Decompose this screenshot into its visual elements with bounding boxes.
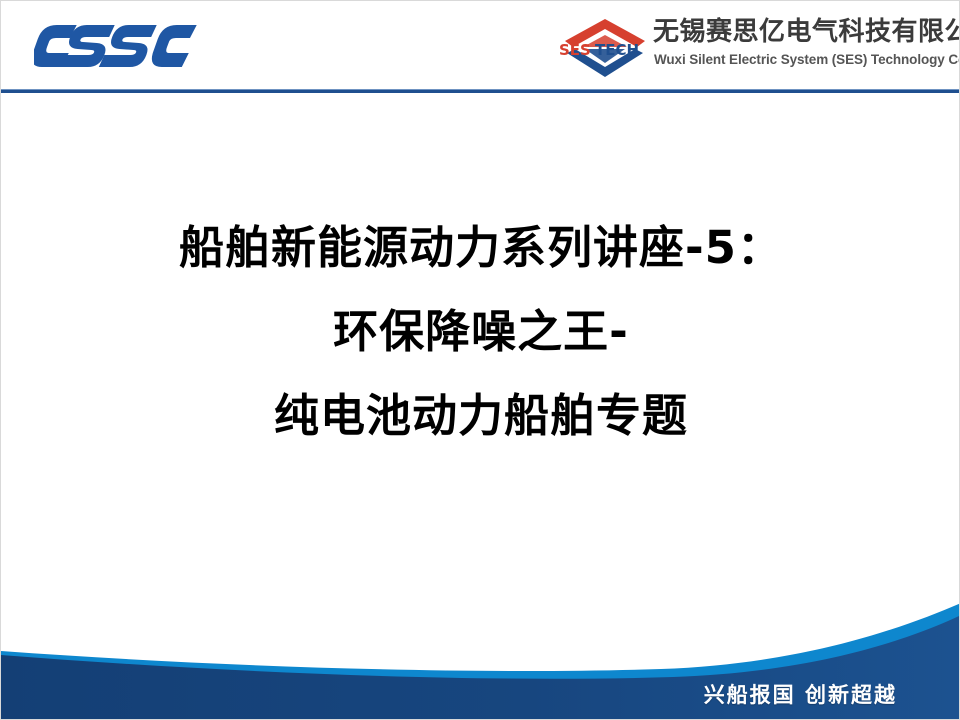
presentation-slide: SES TECH 无锡赛思亿电气科技有限公司 Wuxi Silent Elect… [0,0,960,720]
svg-text:SES: SES [559,41,591,59]
sestech-mark-icon: SES TECH [557,15,653,79]
sestech-logo-block: SES TECH 无锡赛思亿电气科技有限公司 Wuxi Silent Elect… [557,13,953,81]
slide-header: SES TECH 无锡赛思亿电气科技有限公司 Wuxi Silent Elect… [1,1,960,90]
footer-slogan: 兴船报国 创新超越 [704,679,897,709]
svg-text:TECH: TECH [595,41,639,59]
title-line-3: 纯电池动力船舶专题 [61,374,901,458]
title-line-2: 环保降噪之王- [61,290,901,374]
cssc-logo [34,19,214,75]
slide-title: 船舶新能源动力系列讲座-5： 环保降噪之王- 纯电池动力船舶专题 [61,206,901,458]
header-divider [1,89,960,93]
company-name-cn: 无锡赛思亿电气科技有限公司 [653,15,960,49]
title-line-1: 船舶新能源动力系列讲座-5： [61,206,901,290]
company-name-en: Wuxi Silent Electric System (SES) Techno… [654,51,960,69]
sestech-company-names: 无锡赛思亿电气科技有限公司 Wuxi Silent Electric Syste… [653,15,953,79]
